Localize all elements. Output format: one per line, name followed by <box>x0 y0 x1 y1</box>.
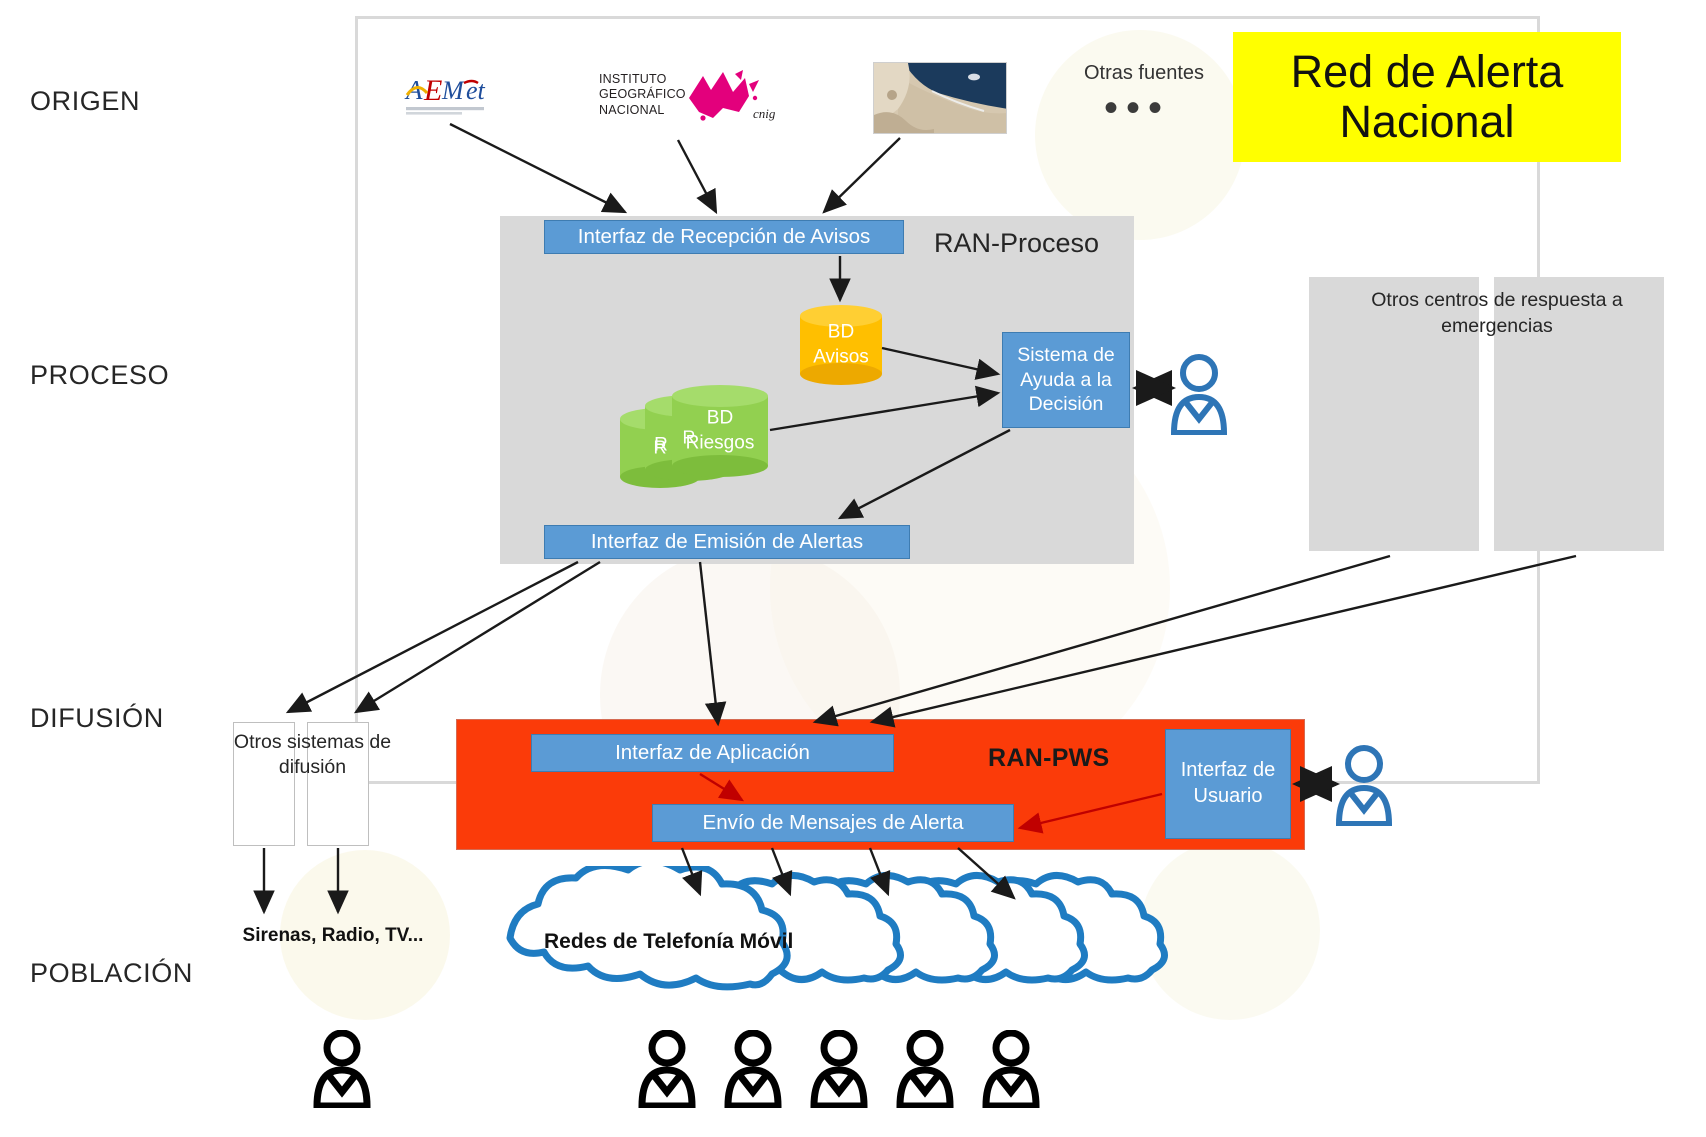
page-title-line1: Red de Alerta <box>1291 47 1564 97</box>
cnig-mark: cnig <box>753 106 776 121</box>
ran-proceso-label: RAN-Proceso <box>934 228 1099 259</box>
photo-source-thumbnail <box>873 62 1007 134</box>
interfaz-usuario-box[interactable]: Interfaz de Usuario <box>1165 729 1291 839</box>
operator-sad-person-icon <box>1168 353 1230 440</box>
population-person-icon <box>638 1030 696 1113</box>
stage-label-proceso: PROCESO <box>30 360 169 391</box>
interfaz-emision-alertas-box[interactable]: Interfaz de Emisión de Alertas <box>544 525 910 559</box>
otros-centros-label: Otros centros de respuesta a emergencias <box>1327 288 1667 339</box>
ign-logo: INSTITUTO GEOGRÁFICO NACIONAL cnig <box>599 68 791 130</box>
redes-telefonia-movil-label: Redes de Telefonía Móvil <box>544 930 793 953</box>
sistema-ayuda-decision-label: Sistema de Ayuda a la Decisión <box>1009 343 1123 418</box>
sirenas-radio-tv-label: Sirenas, Radio, TV... <box>218 925 448 947</box>
ign-logo-text: INSTITUTO GEOGRÁFICO NACIONAL <box>599 72 686 118</box>
diagram-canvas: ORIGEN PROCESO DIFUSIÓN POBLACIÓN Red de… <box>0 0 1706 1137</box>
interfaz-usuario-label: Interfaz de Usuario <box>1172 758 1284 809</box>
stage-label-origen: ORIGEN <box>30 86 140 117</box>
sistema-ayuda-decision-box[interactable]: Sistema de Ayuda a la Decisión <box>1002 332 1130 428</box>
bd-avisos-cylinder: BD Avisos <box>800 305 882 385</box>
interfaz-recepcion-avisos-box[interactable]: Interfaz de Recepción de Avisos <box>544 220 904 254</box>
interfaz-aplicacion-box[interactable]: Interfaz de Aplicación <box>531 734 894 772</box>
aemet-logo: A E M et <box>404 69 502 121</box>
population-person-icon <box>724 1030 782 1113</box>
svg-text:M: M <box>441 76 465 105</box>
bd-riesgos-label: BD Riesgos <box>672 406 768 455</box>
population-person-icon <box>810 1030 868 1113</box>
population-person-icon <box>313 1030 371 1113</box>
redes-telefonia-movil-clouds: Redes de Telefonía Móvil <box>488 866 1228 1001</box>
bd-avisos-label: BD Avisos <box>800 320 882 369</box>
stage-label-difusion: DIFUSIÓN <box>30 703 164 734</box>
population-person-icon <box>896 1030 954 1113</box>
bd-riesgos-cylinder: BD Riesgos <box>672 385 768 477</box>
population-person-icon <box>982 1030 1040 1113</box>
otros-sistemas-difusion-label: Otros sistemas de difusión <box>215 730 410 781</box>
otras-fuentes-label: Otras fuentes <box>1073 62 1215 85</box>
operator-pws-person-icon <box>1333 744 1395 831</box>
envio-mensajes-alerta-box[interactable]: Envío de Mensajes de Alerta <box>652 804 1014 842</box>
stage-label-poblacion: POBLACIÓN <box>30 958 193 989</box>
ellipsis-dots: ••• <box>1104 96 1170 120</box>
page-title: Red de Alerta Nacional <box>1233 32 1621 162</box>
ran-pws-label: RAN-PWS <box>988 744 1110 773</box>
page-title-line2: Nacional <box>1339 97 1514 147</box>
